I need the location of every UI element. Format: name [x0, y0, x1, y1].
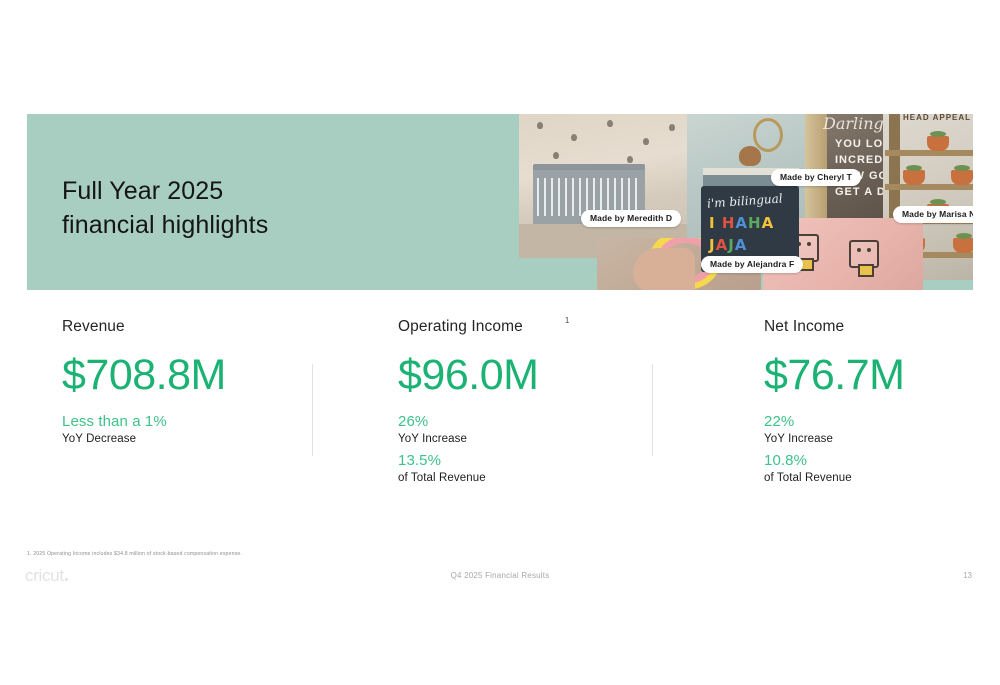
- nursery-crib-photo: [519, 114, 694, 258]
- metric-revenue-value: $708.8M: [62, 352, 302, 398]
- metrics-row: Revenue $708.8M Less than a 1% YoY Decre…: [0, 318, 1000, 518]
- metric-operating-income-value: $96.0M: [398, 352, 638, 398]
- metric-net-income-value: $76.7M: [764, 352, 979, 398]
- metric-net-income-label: Net Income: [764, 318, 844, 336]
- metric-revenue-header: Revenue: [62, 318, 302, 336]
- metric-net-income-stat-1-caption: of Total Revenue: [764, 470, 979, 486]
- metric-revenue-stat-0: Less than a 1% YoY Decrease: [62, 412, 302, 447]
- metric-net-income-stat-0-caption: YoY Increase: [764, 431, 979, 447]
- credit-pill-marisa: Made by Marisa N: [893, 206, 973, 223]
- credit-pill-cheryl: Made by Cheryl T: [771, 169, 861, 186]
- sign-script-text: Darling: [823, 114, 884, 133]
- metric-operating-income-stat-1-caption: of Total Revenue: [398, 470, 638, 486]
- metric-operating-income-label: Operating Income: [398, 318, 523, 336]
- photo-collage: Darling YOU LOOK INCREDIBLE, NOW GO GET …: [489, 114, 973, 290]
- metric-revenue-stat-0-pct: Less than a 1%: [62, 412, 302, 431]
- teddy-bear-shape: [739, 146, 761, 166]
- shirt-word-1: I HAHA: [709, 214, 774, 232]
- metric-operating-income-stat-0-caption: YoY Increase: [398, 431, 638, 447]
- page-title: Full Year 2025 financial highlights: [62, 174, 268, 242]
- column-divider-1: [312, 364, 313, 456]
- hero-banner: Full Year 2025 financial highlights: [27, 114, 973, 290]
- credit-pill-alejandra: Made by Alejandra F: [701, 256, 803, 273]
- metric-operating-income: Operating Income1 $96.0M 26% YoY Increas…: [398, 318, 638, 486]
- metric-operating-income-stat-1-pct: 13.5%: [398, 451, 638, 470]
- credit-pill-meredith: Made by Meredith D: [581, 210, 681, 227]
- shirt-script-text: i'm bilingual: [707, 191, 783, 210]
- metric-operating-income-stat-0: 26% YoY Increase: [398, 412, 638, 447]
- plant-headline-text: HEAD APPEAL: [903, 114, 971, 122]
- shirt-word-2: JAJA: [709, 236, 747, 254]
- metric-net-income: Net Income $76.7M 22% YoY Increase 10.8%…: [764, 318, 979, 486]
- metric-revenue: Revenue $708.8M Less than a 1% YoY Decre…: [62, 318, 302, 447]
- footnote-text: 1. 2025 Operating Income includes $34.8 …: [27, 551, 242, 557]
- metric-net-income-stat-0: 22% YoY Increase: [764, 412, 979, 447]
- metric-net-income-stat-1: 10.8% of Total Revenue: [764, 451, 979, 486]
- metric-revenue-label: Revenue: [62, 318, 125, 336]
- metric-operating-income-stat-1: 13.5% of Total Revenue: [398, 451, 638, 486]
- wall-hook-shape: [753, 118, 783, 152]
- metric-net-income-stat-0-pct: 22%: [764, 412, 979, 431]
- metric-net-income-stat-1-pct: 10.8%: [764, 451, 979, 470]
- slide-root: Full Year 2025 financial highlights: [0, 0, 1000, 685]
- metric-operating-income-header: Operating Income1: [398, 318, 638, 336]
- footnote-marker-superscript: 1: [565, 316, 569, 325]
- hand-shape: [633, 248, 695, 290]
- metric-operating-income-stat-0-pct: 26%: [398, 412, 638, 431]
- metric-revenue-stat-0-caption: YoY Decrease: [62, 431, 302, 447]
- footer-page-number: 13: [963, 571, 972, 580]
- footer-deck-title: Q4 2025 Financial Results: [0, 571, 1000, 580]
- metric-net-income-header: Net Income: [764, 318, 979, 336]
- column-divider-2: [652, 364, 653, 456]
